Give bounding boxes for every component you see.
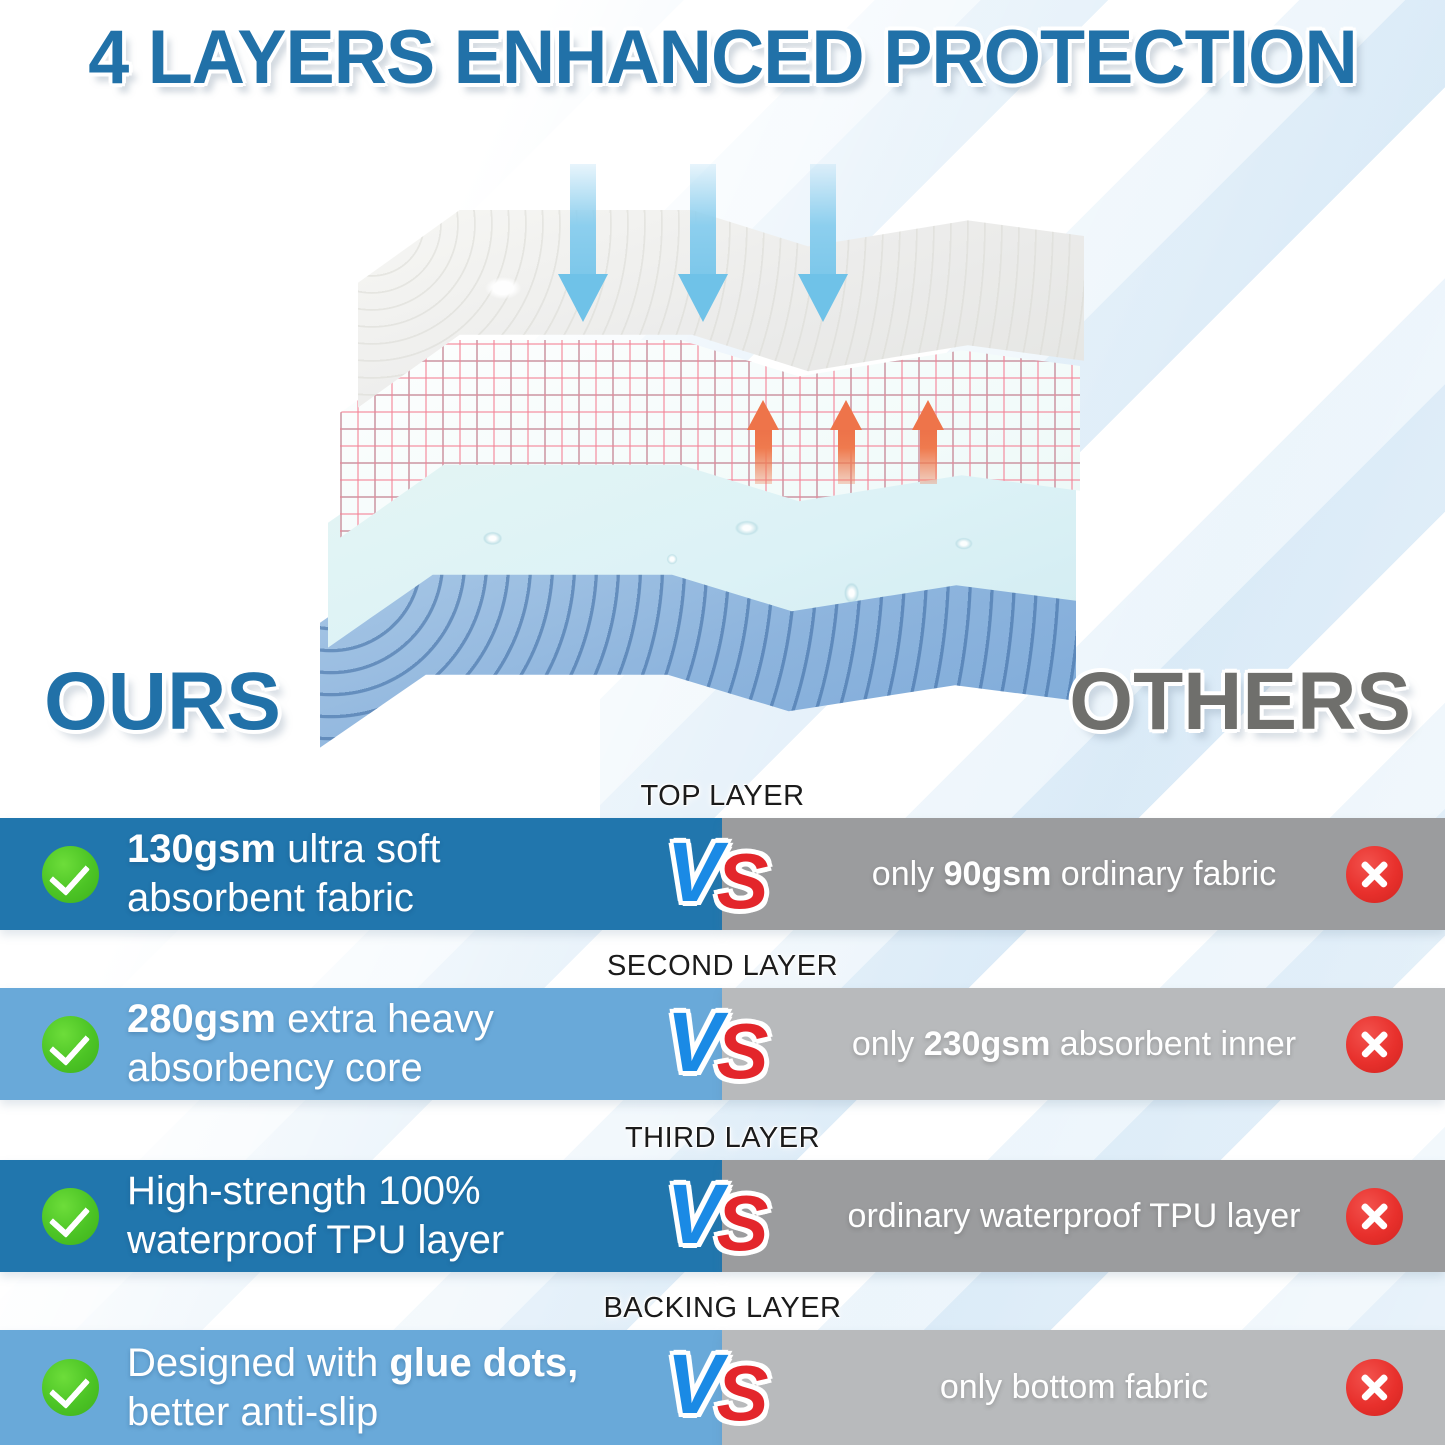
vs-s-letter: S bbox=[717, 1184, 769, 1262]
others-text: ordinary waterproof TPU layer bbox=[722, 1195, 1346, 1238]
layer-stack-illustration bbox=[320, 150, 1110, 680]
ours-text: High-strength 100% waterproof TPU layer bbox=[127, 1167, 504, 1265]
ours-line2: absorbency core bbox=[127, 1044, 494, 1093]
ours-line2: absorbent fabric bbox=[127, 874, 441, 923]
vs-s-letter: S bbox=[717, 1354, 769, 1432]
others-text: only 230gsm absorbent inner bbox=[722, 1023, 1346, 1066]
check-icon bbox=[42, 846, 99, 903]
check-icon bbox=[42, 1016, 99, 1073]
vs-v-letter: V bbox=[667, 1000, 723, 1084]
ours-cell: 130gsm ultra soft absorbent fabric bbox=[0, 818, 722, 930]
others-post: absorbent inner bbox=[1050, 1025, 1296, 1063]
vs-v-letter: V bbox=[667, 1342, 723, 1426]
others-highlight: 230gsm bbox=[924, 1025, 1051, 1063]
ours-text: 130gsm ultra soft absorbent fabric bbox=[127, 825, 441, 923]
others-text: only bottom fabric bbox=[722, 1366, 1346, 1409]
others-cell: only 230gsm absorbent inner bbox=[722, 988, 1445, 1100]
others-cell: ordinary waterproof TPU layer bbox=[722, 1160, 1445, 1272]
others-pre: only bottom fabric bbox=[940, 1368, 1208, 1406]
ours-line2: better anti-slip bbox=[127, 1388, 578, 1437]
others-cell: only bottom fabric bbox=[722, 1330, 1445, 1445]
layer-caption-third: THIRD LAYER bbox=[0, 1122, 1445, 1155]
ours-line2: waterproof TPU layer bbox=[127, 1216, 504, 1265]
cross-icon bbox=[1346, 1016, 1403, 1073]
others-pre: only bbox=[852, 1025, 924, 1063]
ours-highlight: 280gsm bbox=[127, 997, 276, 1041]
ours-text: Designed with glue dots, better anti-sli… bbox=[127, 1339, 578, 1437]
cross-icon bbox=[1346, 1188, 1403, 1245]
vs-v-letter: V bbox=[667, 830, 723, 914]
vs-badge: V S bbox=[667, 828, 785, 924]
others-post: ordinary fabric bbox=[1051, 855, 1276, 893]
others-text: only 90gsm ordinary fabric bbox=[722, 853, 1346, 896]
others-highlight: 90gsm bbox=[944, 855, 1052, 893]
layer-caption-second: SECOND LAYER bbox=[0, 950, 1445, 983]
page-title: 4 LAYERS ENHANCED PROTECTION bbox=[22, 14, 1424, 101]
check-icon bbox=[42, 1188, 99, 1245]
ours-highlight: 130gsm bbox=[127, 827, 276, 871]
others-pre: ordinary waterproof TPU layer bbox=[848, 1197, 1301, 1235]
others-cell: only 90gsm ordinary fabric bbox=[722, 818, 1445, 930]
vs-badge: V S bbox=[667, 1170, 785, 1266]
vs-badge: V S bbox=[667, 1340, 785, 1436]
layer-caption-backing: BACKING LAYER bbox=[0, 1292, 1445, 1325]
others-pre: only bbox=[872, 855, 944, 893]
others-column-heading: OTHERS bbox=[1069, 655, 1411, 749]
cross-icon bbox=[1346, 846, 1403, 903]
cross-icon bbox=[1346, 1359, 1403, 1416]
ours-cell: 280gsm extra heavy absorbency core bbox=[0, 988, 722, 1100]
ours-column-heading: OURS bbox=[44, 655, 281, 749]
ours-rest: High-strength 100% bbox=[127, 1169, 481, 1213]
ours-rest: ultra soft bbox=[276, 827, 441, 871]
check-icon bbox=[42, 1359, 99, 1416]
vs-s-letter: S bbox=[717, 842, 769, 920]
infographic-page: 4 LAYERS ENHANCED PROTECTION OURS OTHERS… bbox=[0, 0, 1445, 1445]
ours-cell: High-strength 100% waterproof TPU layer bbox=[0, 1160, 722, 1272]
ours-highlight: glue dots, bbox=[389, 1341, 578, 1385]
vs-badge: V S bbox=[667, 998, 785, 1094]
layer-caption-top: TOP LAYER bbox=[0, 780, 1445, 813]
vs-v-letter: V bbox=[667, 1172, 723, 1256]
ours-rest: extra heavy bbox=[276, 997, 494, 1041]
ours-text: 280gsm extra heavy absorbency core bbox=[127, 995, 494, 1093]
vs-s-letter: S bbox=[717, 1012, 769, 1090]
ours-cell: Designed with glue dots, better anti-sli… bbox=[0, 1330, 722, 1445]
ours-rest: Designed with bbox=[127, 1341, 389, 1385]
